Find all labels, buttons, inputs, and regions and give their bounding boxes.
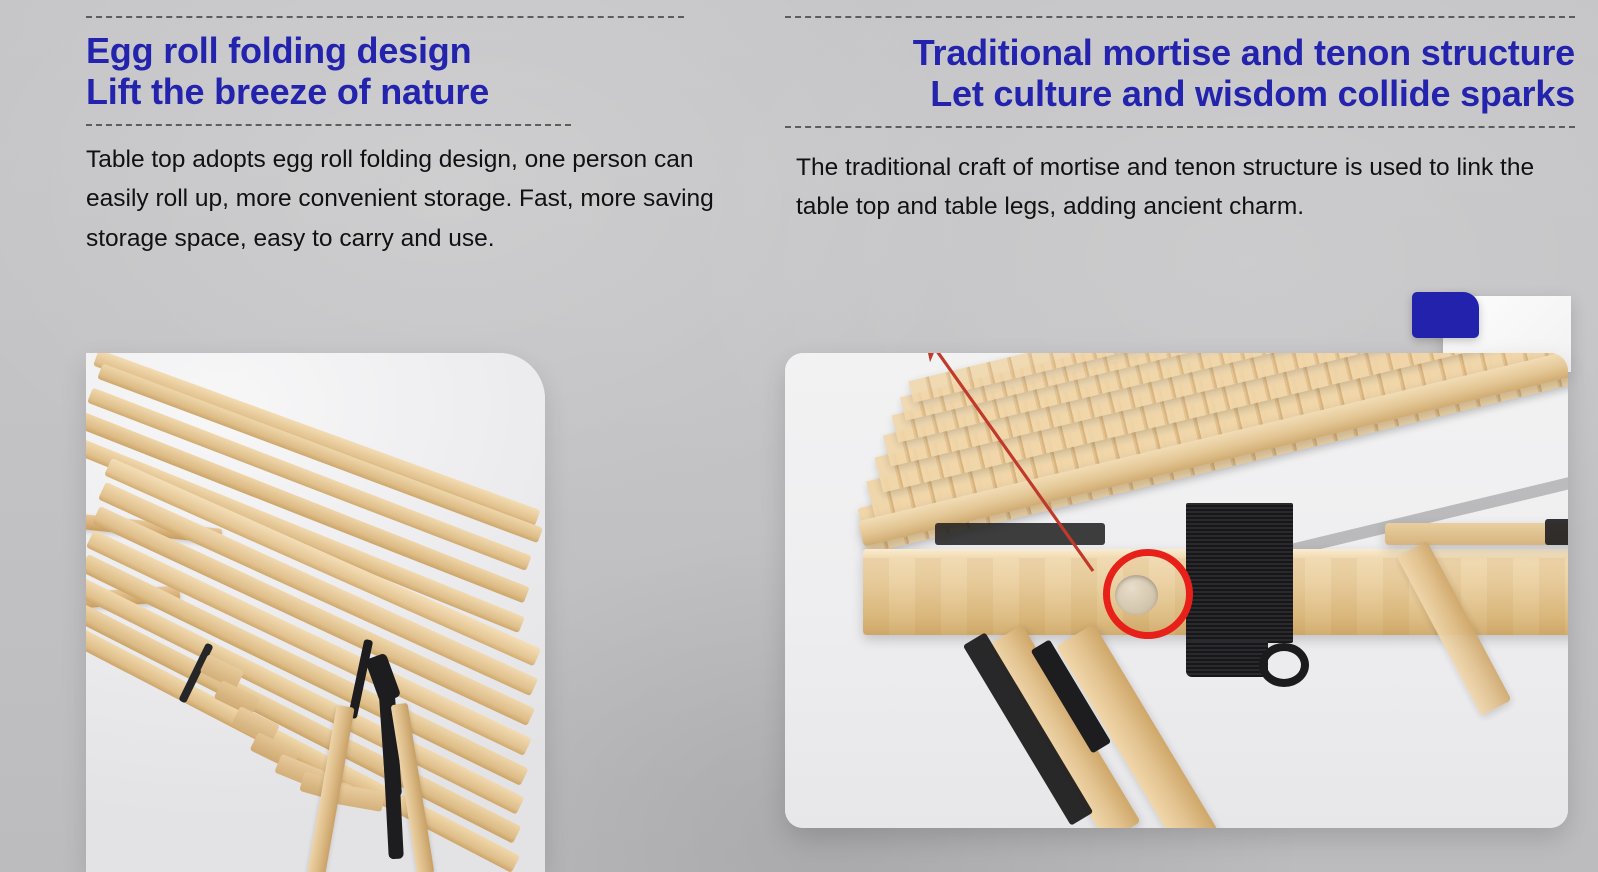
mortise-hole — [1115, 575, 1158, 615]
right-body-text: The traditional craft of mortise and ten… — [796, 148, 1566, 227]
right-heading-line-2: Let culture and wisdom collide sparks — [785, 75, 1575, 114]
left-heading-line-1: Egg roll folding design — [86, 32, 706, 71]
left-heading-top-rule — [86, 16, 684, 18]
right-heading-bottom-rule — [785, 126, 1575, 128]
left-heading-line-2: Lift the breeze of nature — [86, 73, 706, 112]
right-heading-line-1: Traditional mortise and tenon structure — [785, 34, 1575, 73]
blue-badge — [1412, 292, 1479, 338]
left-feature-section: Egg roll folding design Lift the breeze … — [86, 8, 706, 259]
left-product-photo — [86, 353, 545, 872]
left-body-text: Table top adopts egg roll folding design… — [86, 140, 726, 259]
right-heading-top-rule — [785, 16, 1575, 18]
right-product-photo — [785, 353, 1568, 828]
left-heading-bottom-rule — [86, 124, 571, 126]
right-feature-section: Traditional mortise and tenon structure … — [785, 8, 1575, 227]
